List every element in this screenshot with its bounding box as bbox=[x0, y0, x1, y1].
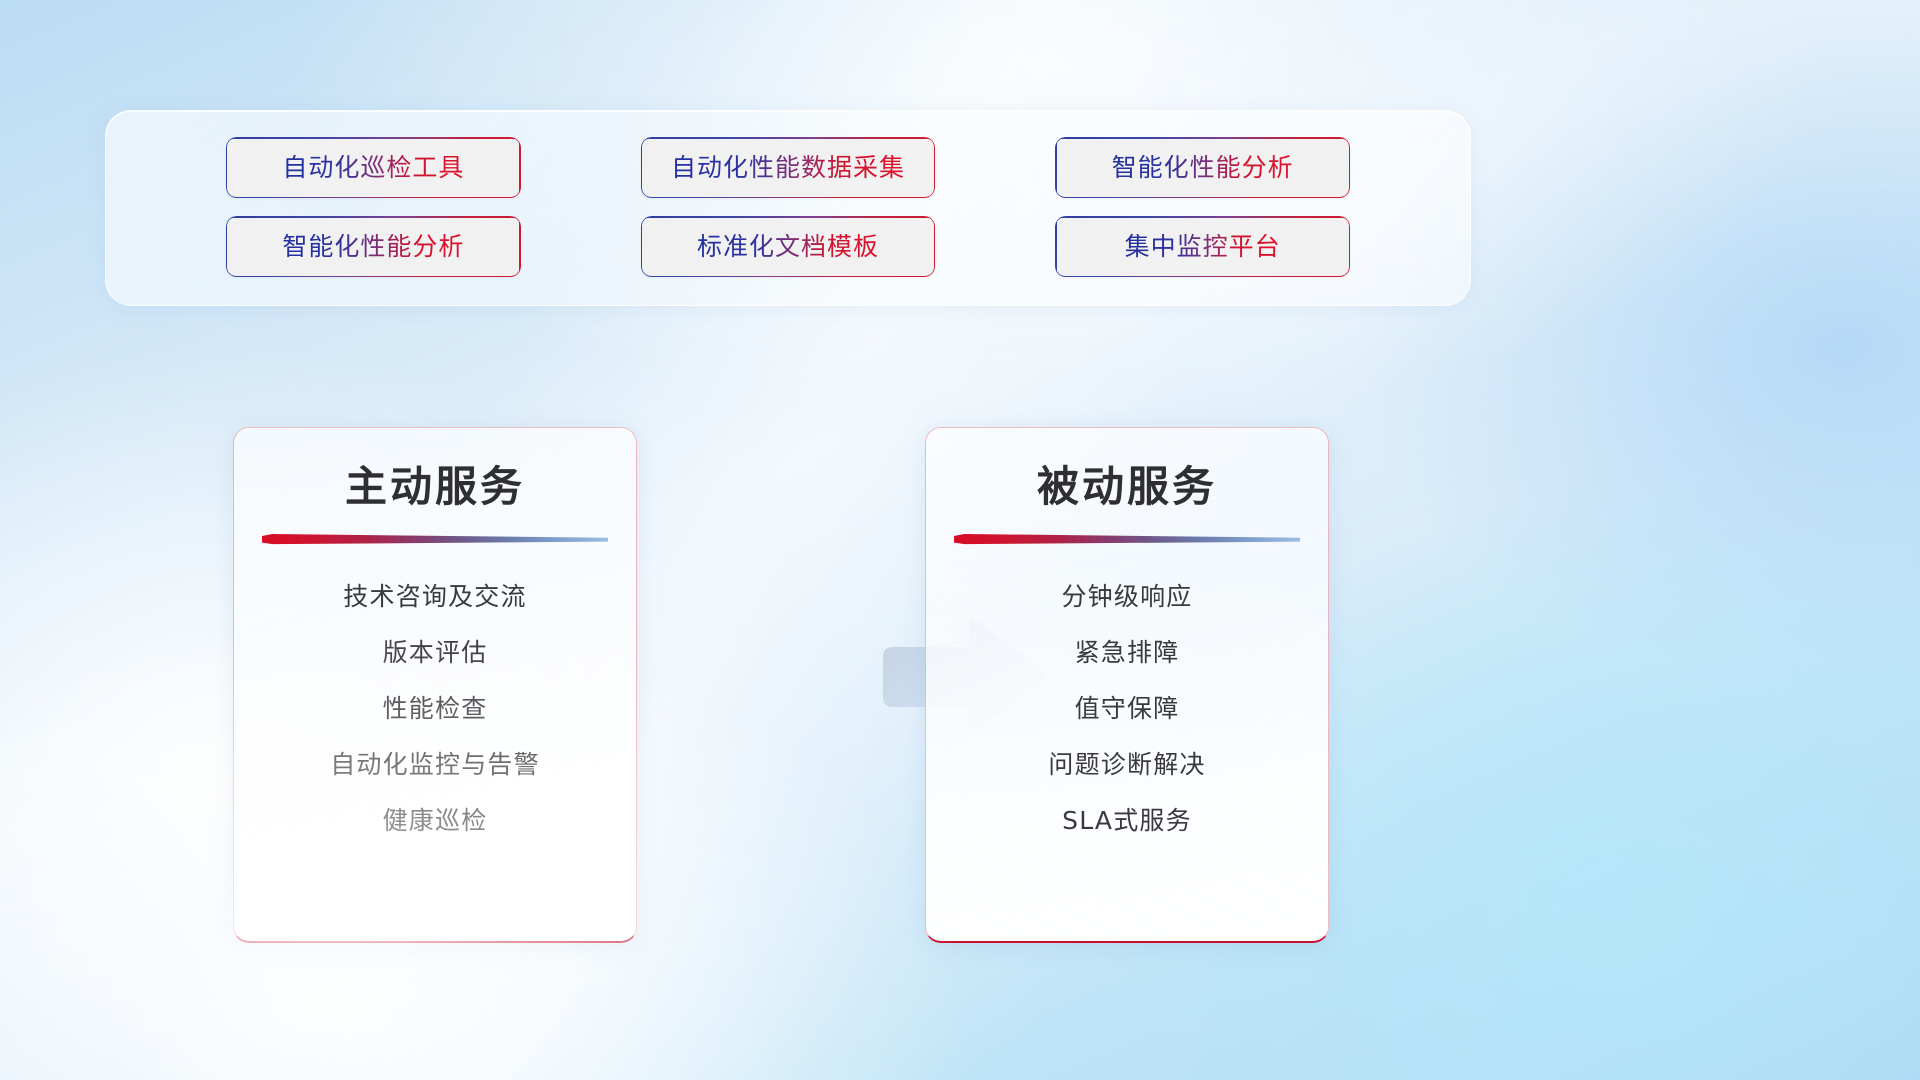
capability-panel: 自动化巡检工具 自动化性能数据采集 智能化性能分析 智能化性能分析 标准化文档模… bbox=[105, 110, 1471, 306]
capability-chip-label: 智能化性能分析 bbox=[1112, 155, 1294, 180]
card-title: 主动服务 bbox=[258, 462, 612, 512]
capability-chip-3[interactable]: 智能化性能分析 bbox=[227, 218, 519, 276]
capability-chip-label: 标准化文档模板 bbox=[697, 234, 879, 259]
service-list-item: 性能检查 bbox=[258, 694, 612, 724]
slide-canvas: 自动化巡检工具 自动化性能数据采集 智能化性能分析 智能化性能分析 标准化文档模… bbox=[0, 0, 1920, 1080]
service-list-item: 健康巡检 bbox=[258, 806, 612, 836]
capability-chip-label: 自动化巡检工具 bbox=[282, 155, 464, 180]
capability-chip-label: 智能化性能分析 bbox=[282, 234, 464, 259]
capability-chip-5[interactable]: 集中监控平台 bbox=[1057, 218, 1349, 276]
service-list-item: 版本评估 bbox=[258, 638, 612, 668]
capability-chip-label: 集中监控平台 bbox=[1125, 234, 1281, 259]
service-item-list: 分钟级响应 紧急排障 值守保障 问题诊断解决 SLA式服务 bbox=[950, 582, 1304, 836]
service-list-item: SLA式服务 bbox=[950, 806, 1304, 836]
service-list-item: 技术咨询及交流 bbox=[258, 582, 612, 612]
service-list-item: 紧急排障 bbox=[950, 638, 1304, 668]
service-card-reactive[interactable]: 被动服务 分钟级响应 紧急排障 值守保障 问题诊断解决 SLA式服务 bbox=[925, 427, 1329, 943]
title-divider bbox=[262, 534, 608, 546]
service-list-item: 值守保障 bbox=[950, 694, 1304, 724]
capability-chip-label: 自动化性能数据采集 bbox=[671, 155, 905, 180]
title-divider bbox=[954, 534, 1300, 546]
service-list-item: 自动化监控与告警 bbox=[258, 750, 612, 780]
capability-chip-0[interactable]: 自动化巡检工具 bbox=[227, 139, 519, 197]
service-item-list: 技术咨询及交流 版本评估 性能检查 自动化监控与告警 健康巡检 bbox=[258, 582, 612, 836]
capability-chip-4[interactable]: 标准化文档模板 bbox=[642, 218, 934, 276]
service-card-proactive[interactable]: 主动服务 技术咨询及交流 版本评估 性能检查 自动化监控与告警 健康巡检 bbox=[233, 427, 637, 943]
service-list-item: 分钟级响应 bbox=[950, 582, 1304, 612]
capability-chip-1[interactable]: 自动化性能数据采集 bbox=[642, 139, 934, 197]
service-list-item: 问题诊断解决 bbox=[950, 750, 1304, 780]
card-title: 被动服务 bbox=[950, 462, 1304, 512]
capability-chip-2[interactable]: 智能化性能分析 bbox=[1057, 139, 1349, 197]
